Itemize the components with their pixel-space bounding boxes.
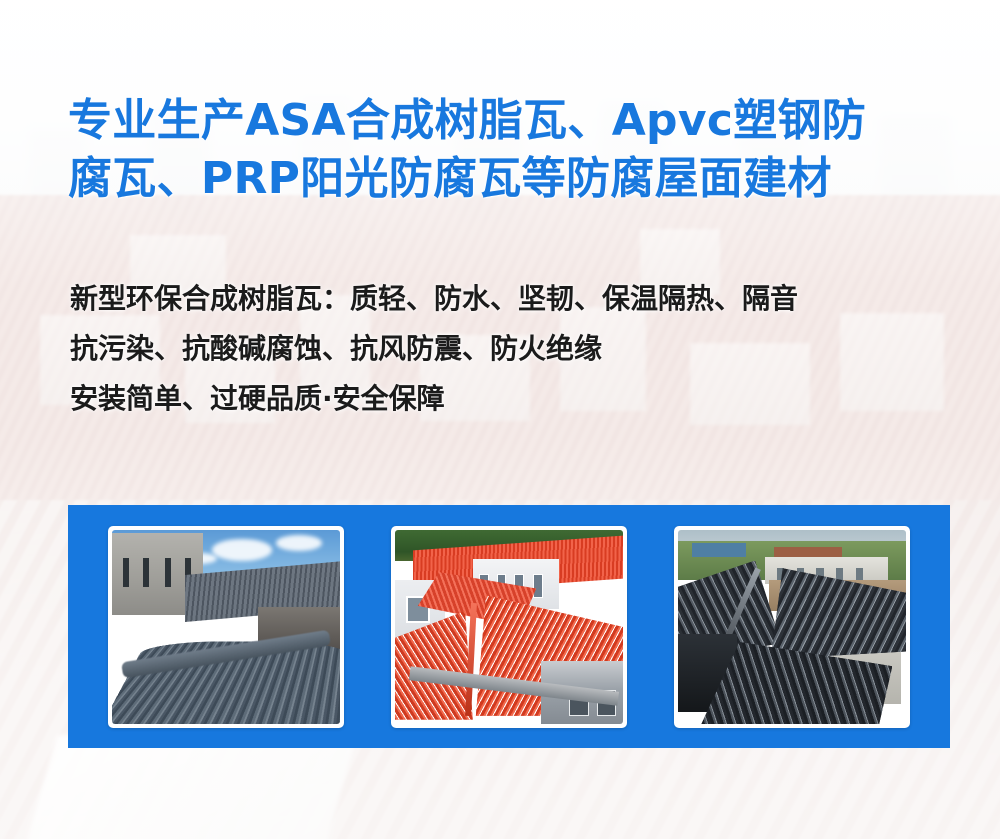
- cloud-shape: [212, 539, 271, 560]
- window-shape: [165, 558, 171, 587]
- subheadline-line-1: 新型环保合成树脂瓦：质轻、防水、坚韧、保温隔热、隔音: [70, 274, 970, 324]
- headline: 专业生产ASA合成树脂瓦、Apvc塑钢防 腐瓦、PRP阳光防腐瓦等防腐屋面建材: [68, 92, 958, 208]
- promo-banner: 专业生产ASA合成树脂瓦、Apvc塑钢防 腐瓦、PRP阳光防腐瓦等防腐屋面建材 …: [0, 0, 1000, 839]
- headline-line-2: 腐瓦、PRP阳光防腐瓦等防腐屋面建材: [68, 150, 958, 208]
- subheadline-line-2: 抗污染、抗酸碱腐蚀、抗风防震、防火绝缘: [70, 324, 970, 374]
- window-shape: [143, 558, 149, 587]
- window-shape: [123, 558, 129, 587]
- photo-gallery-panel: [68, 505, 950, 748]
- photo-grey-image: [112, 530, 340, 724]
- window-shape: [533, 574, 543, 598]
- photo-black-resin-tile-roof[interactable]: [674, 526, 910, 728]
- subheadline-line-3: 安装简单、过硬品质·安全保障: [70, 374, 970, 424]
- window-shape: [856, 568, 863, 580]
- photo-red-resin-tile-roof[interactable]: [391, 526, 627, 728]
- photo-red-image: [395, 530, 623, 724]
- cloud-shape: [276, 535, 322, 551]
- photo-black-image: [678, 530, 906, 724]
- window-shape: [836, 568, 843, 580]
- headline-line-1: 专业生产ASA合成树脂瓦、Apvc塑钢防: [68, 92, 958, 150]
- photo-grey-resin-tile-roof[interactable]: [108, 526, 344, 728]
- subheadline: 新型环保合成树脂瓦：质轻、防水、坚韧、保温隔热、隔音 抗污染、抗酸碱腐蚀、抗风防…: [70, 274, 970, 424]
- blue-roof-building: [692, 543, 747, 557]
